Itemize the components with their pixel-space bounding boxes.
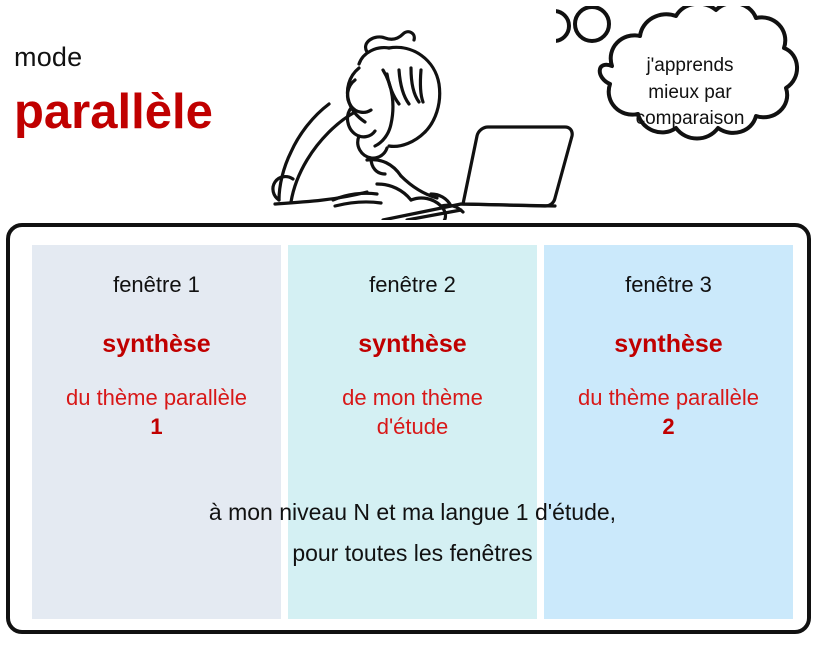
header-area: mode parallèle xyxy=(0,0,829,222)
panel-description-text-3: du thème parallèle xyxy=(578,385,759,410)
panel-description-text-1: du thème parallèle xyxy=(66,385,247,410)
window-label-1: fenêtre 1 xyxy=(32,274,281,296)
window-panel-3[interactable]: fenêtre 3 synthèse du thème parallèle 2 xyxy=(544,245,793,619)
thought-dot-4 xyxy=(556,11,569,41)
page-title: parallèle xyxy=(14,88,213,137)
synthesis-label-3: synthèse xyxy=(544,332,793,357)
thought-dot-5 xyxy=(575,7,609,41)
panel-description-text-2: de mon thème xyxy=(342,385,483,410)
person-thinking-at-laptop-illustration xyxy=(255,8,575,220)
panel-number-2: d'étude xyxy=(377,414,449,439)
window-label-3: fenêtre 3 xyxy=(544,274,793,296)
synthesis-label-1: synthèse xyxy=(32,332,281,357)
window-panel-2[interactable]: fenêtre 2 synthèse de mon thème d'étude xyxy=(288,245,537,619)
panel-number-1: 1 xyxy=(150,414,162,439)
panel-description-2: de mon thème d'étude xyxy=(288,383,537,441)
panel-description-1: du thème parallèle 1 xyxy=(32,383,281,441)
window-panel-1[interactable]: fenêtre 1 synthèse du thème parallèle 1 xyxy=(32,245,281,619)
title-eyebrow: mode xyxy=(14,44,82,71)
synthesis-label-2: synthèse xyxy=(288,332,537,357)
thought-bubble: j'apprends mieux par comparaison xyxy=(556,6,824,174)
panel-description-3: du thème parallèle 2 xyxy=(544,383,793,441)
windows-panel-group: fenêtre 1 synthèse du thème parallèle 1 … xyxy=(32,245,793,619)
windows-frame: fenêtre 1 synthèse du thème parallèle 1 … xyxy=(6,223,811,634)
illustration-svg xyxy=(255,8,575,220)
panel-number-3: 2 xyxy=(662,414,674,439)
window-label-2: fenêtre 2 xyxy=(288,274,537,296)
thought-bubble-svg xyxy=(556,6,824,174)
